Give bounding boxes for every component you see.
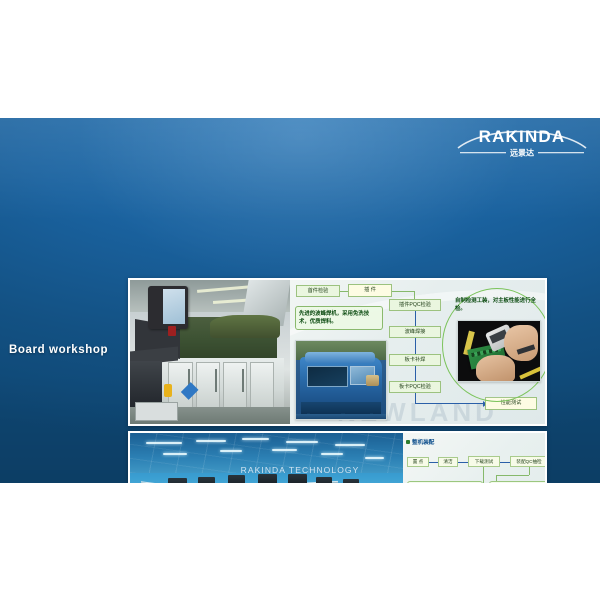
reflow-soldering-machine-photo <box>130 280 290 424</box>
bullet-marker <box>406 440 410 444</box>
callout-wave-soldering: 先进的波峰焊机，采用免洗技术，优质焊料。 <box>295 306 383 330</box>
svg-text:RAKINDA: RAKINDA <box>479 127 566 146</box>
mainboard-function-test-photo <box>457 320 541 382</box>
presentation-slide: RAKINDA 远景达 Board workshop Assembly line <box>0 118 600 483</box>
flow-step-first-article-inspection: 首件检验 <box>296 285 340 297</box>
flow-title-final-assembly: 整机装配 <box>412 438 434 446</box>
board-workshop-panel: NEWLAND 首件检验 插 件 插件PQC检验 波峰焊接 板卡补焊 板卡P <box>128 278 547 426</box>
assembly-line-panel: 2 7:02 AM 整机装配 置 点 清洁 下载测试 装配QC抽检 包 装 <box>128 431 547 483</box>
flow-step-board-touch-up-soldering: 板卡补焊 <box>389 354 441 366</box>
flow-step-insertion-pqc-inspection: 插件PQC检验 <box>389 299 441 311</box>
wave-soldering-machine-photo <box>295 340 387 420</box>
flow-step-through-hole-insertion: 插 件 <box>348 284 392 297</box>
assembly-line-flow-diagram: 整机装配 置 点 清洁 下载测试 装配QC抽检 包 装 出货QC抽检 <box>403 433 545 483</box>
rakinda-logo: RAKINDA 远景达 <box>452 124 592 164</box>
svg-text:远景达: 远景达 <box>510 148 534 158</box>
callout-self-made-test-fixture: 自制检测工装，对主板性能进行全检。 <box>452 294 540 316</box>
callout-card-burn-in: 24小时烤机。 <box>407 481 483 483</box>
flow-step-wave-soldering: 波峰焊接 <box>389 326 441 338</box>
slide-canvas: RAKINDA 远景达 Board workshop Assembly line <box>0 0 600 600</box>
flow-step-board-pqc-inspection: 板卡PQC检验 <box>389 381 441 393</box>
assembly-line-hall-photo: 2 7:02 AM <box>130 433 403 483</box>
board-workshop-flow-diagram: NEWLAND 首件检验 插 件 插件PQC检验 波峰焊接 板卡补焊 板卡P <box>290 280 545 424</box>
side-label-board-workshop: Board workshop <box>9 344 108 356</box>
callout-card-software-download: 下载达润程序，并对整机进行全面测试。 <box>489 481 545 483</box>
slide-footer: RAKINDA TECHNOLOGY <box>0 465 600 475</box>
